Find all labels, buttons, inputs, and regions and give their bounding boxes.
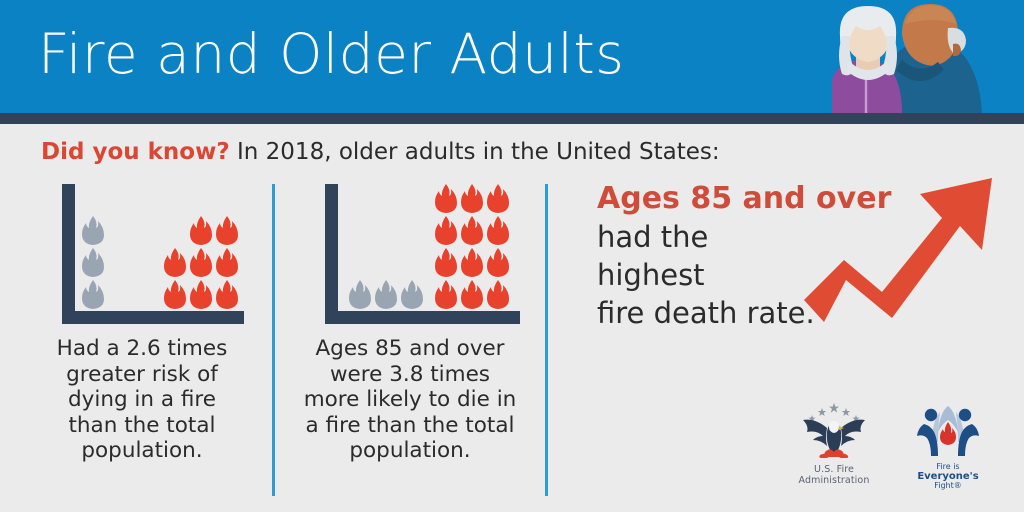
- stat-panel-1: Had a 2.6 times greater risk of dying in…: [22, 176, 262, 464]
- stat-panel-2-caption: Ages 85 and over were 3.8 times more lik…: [285, 336, 535, 464]
- flame-icon-red: [433, 279, 459, 311]
- flame-icon-red: [162, 279, 188, 311]
- flame-icon-red: [459, 215, 485, 247]
- flame-row: [162, 279, 240, 311]
- usfa-caption-line-1: U.S. Fire: [814, 464, 854, 475]
- flame-icon-gray: [80, 247, 106, 279]
- eagle-logo-icon: [797, 402, 871, 464]
- caption-line: greater risk of: [66, 362, 218, 387]
- pictogram-chart-2: [285, 176, 535, 328]
- flame-icon-red: [188, 215, 214, 247]
- flame-icon-red: [485, 247, 511, 279]
- usfa-logo-caption: U.S. Fire Administration: [779, 464, 889, 486]
- flame-icon-red: [485, 279, 511, 311]
- two-figures-flame-icon: [914, 402, 982, 462]
- highlight-line-3: fire death rate.: [597, 294, 927, 332]
- flame-row: [188, 215, 240, 247]
- infographic-root: Fire and Older Adults: [0, 0, 1024, 512]
- highlight-line-1: had the: [597, 218, 927, 256]
- flame-row: [433, 279, 511, 311]
- flame-row: [80, 215, 106, 247]
- stat-panel-1-caption: Had a 2.6 times greater risk of dying in…: [22, 336, 262, 464]
- flame-icon-red: [188, 247, 214, 279]
- chart-2-x-axis: [325, 311, 520, 324]
- caption-line: more likely to die in: [304, 387, 517, 412]
- highlight-strong: Ages 85 and over: [597, 180, 927, 218]
- flame-icon-red: [433, 215, 459, 247]
- caption-line: Ages 85 and over: [315, 336, 504, 361]
- flame-icon-gray: [399, 279, 425, 311]
- highlight-text: Ages 85 and over had the highest fire de…: [597, 180, 927, 332]
- flame-icon-red: [214, 247, 240, 279]
- chart-1-y-axis: [62, 184, 75, 324]
- panel-divider-1: [272, 184, 275, 496]
- flame-icon-red: [162, 247, 188, 279]
- chart-1-x-axis: [62, 311, 244, 324]
- caption-line: than the total: [69, 413, 216, 438]
- chart-2-baseline-flames: [347, 279, 425, 311]
- chart-2-comparison-flames: [433, 183, 511, 311]
- flame-icon-red: [214, 215, 240, 247]
- flame-row: [433, 247, 511, 279]
- usfa-caption-line-2: Administration: [799, 475, 870, 486]
- intro-strong: Did you know?: [41, 139, 230, 165]
- caption-line: population.: [349, 438, 470, 463]
- flame-row: [162, 247, 240, 279]
- chart-2-y-axis: [325, 184, 338, 324]
- flame-icon-gray: [80, 279, 106, 311]
- fire-is-everyones-fight-logo[interactable]: Fire is Everyone's Fight®: [893, 402, 1003, 504]
- caption-line: population.: [81, 438, 202, 463]
- page-title: Fire and Older Adults: [38, 18, 624, 90]
- flame-row: [80, 279, 106, 311]
- flame-icon-red: [214, 279, 240, 311]
- caption-line: dying in a fire: [68, 387, 216, 412]
- flame-row: [80, 247, 106, 279]
- panel-divider-2: [545, 184, 548, 496]
- intro-rest: In 2018, older adults in the United Stat…: [230, 139, 720, 165]
- flame-icon-gray: [347, 279, 373, 311]
- pictogram-chart-1: [22, 176, 262, 328]
- highlight-line-2: highest: [597, 256, 927, 294]
- feef-caption-line-2: Everyone's: [917, 471, 978, 482]
- chart-1-baseline-flames: [80, 215, 106, 311]
- flame-icon-red: [485, 183, 511, 215]
- flame-icon-gray: [80, 215, 106, 247]
- flame-icon-red: [485, 215, 511, 247]
- caption-line: were 3.8 times: [330, 362, 490, 387]
- flame-row: [433, 183, 511, 215]
- flame-icon-red: [459, 279, 485, 311]
- highlight-panel: Ages 85 and over had the highest fire de…: [566, 180, 1006, 380]
- body-area: Did you know? In 2018, older adults in t…: [0, 124, 1024, 512]
- older-adults-couple-illustration: [784, 0, 994, 113]
- logo-row: U.S. Fire Administration: [775, 402, 1015, 504]
- flame-icon-red: [433, 183, 459, 215]
- flame-icon-red: [188, 279, 214, 311]
- caption-line: a fire than the total: [306, 413, 515, 438]
- flame-icon-red: [459, 183, 485, 215]
- feef-caption-line-3: Fight®: [934, 481, 962, 490]
- flame-row: [347, 279, 425, 311]
- header-bottom-strip: [0, 113, 1024, 124]
- flame-icon-red: [433, 247, 459, 279]
- intro-line: Did you know? In 2018, older adults in t…: [41, 137, 720, 167]
- caption-line: Had a 2.6 times: [57, 336, 228, 361]
- flame-icon-gray: [373, 279, 399, 311]
- feef-logo-caption: Fire is Everyone's Fight®: [893, 462, 1003, 491]
- stat-panel-2: Ages 85 and over were 3.8 times more lik…: [285, 176, 535, 464]
- usfa-logo[interactable]: U.S. Fire Administration: [779, 402, 889, 504]
- chart-1-comparison-flames: [162, 215, 240, 311]
- flame-icon-red: [459, 247, 485, 279]
- flame-row: [433, 215, 511, 247]
- header-banner: Fire and Older Adults: [0, 0, 1024, 113]
